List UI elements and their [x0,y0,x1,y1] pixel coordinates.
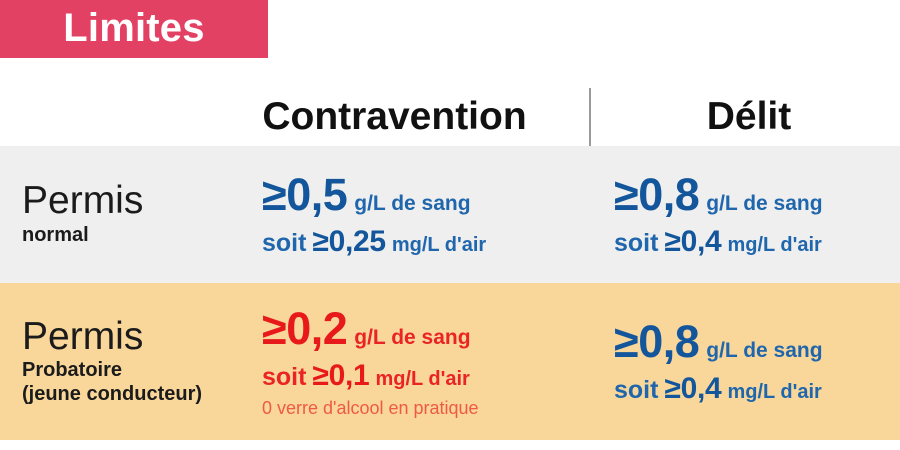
row-label-sub2: (jeune conducteur) [22,383,232,407]
value-line-breath: soit≥0,4mg/L d'air [614,374,900,404]
row-label-permis-normal: Permis normal [22,146,232,283]
breath-limit-unit: mg/L d'air [727,381,821,403]
breath-limit-prefix: soit [614,376,658,404]
row-label-main: Permis [22,181,232,222]
practice-note: 0 verre d'alcool en pratique [262,398,479,418]
blood-limit-unit: g/L de sang [706,192,822,215]
value-line-breath: soit≥0,1mg/L d'air [262,361,582,391]
breath-limit-value: ≥0,1 [312,359,369,392]
value-line-blood: ≥0,5g/L de sang [262,172,582,217]
breath-limit-value: ≥0,25 [312,225,385,258]
breath-limit-prefix: soit [262,363,306,391]
blood-limit-unit: g/L de sang [706,339,822,362]
value-line-blood: ≥0,8g/L de sang [614,319,900,364]
title-badge-label: Limites [63,8,204,48]
cell-probatoire-delit: ≥0,8g/L de sang soit≥0,4mg/L d'air [614,283,900,440]
breath-limit-prefix: soit [262,229,306,257]
blood-limit-value: ≥0,5 [262,169,347,220]
breath-limit-unit: mg/L d'air [727,234,821,256]
blood-limit-value: ≥0,8 [614,169,699,220]
column-header-delit: Délit [598,86,900,146]
row-label-sub: normal [22,224,232,248]
row-label-main: Permis [22,317,232,358]
breath-limit-unit: mg/L d'air [392,234,486,256]
blood-limit-value: ≥0,2 [262,303,347,354]
value-line-blood: ≥0,8g/L de sang [614,172,900,217]
limites-infographic: Limites Contravention Délit Permis norma… [0,0,900,450]
table-row: Permis Probatoire (jeune conducteur) ≥0,… [0,283,900,440]
breath-limit-value: ≥0,4 [664,225,721,258]
value-line-note: 0 verre d'alcool en pratique [262,399,582,418]
blood-limit-value: ≥0,8 [614,316,699,367]
value-line-breath: soit≥0,25mg/L d'air [262,227,582,257]
value-line-breath: soit≥0,4mg/L d'air [614,227,900,257]
cell-normal-delit: ≥0,8g/L de sang soit≥0,4mg/L d'air [614,146,900,283]
cell-normal-contravention: ≥0,5g/L de sang soit≥0,25mg/L d'air [262,146,582,283]
title-badge: Limites [0,0,268,58]
breath-limit-value: ≥0,4 [664,372,721,405]
cell-probatoire-contravention: ≥0,2g/L de sang soit≥0,1mg/L d'air 0 ver… [262,283,582,440]
value-line-blood: ≥0,2g/L de sang [262,306,582,351]
column-header-contravention: Contravention [207,86,582,146]
row-label-sub: Probatoire [22,359,232,383]
column-header-row: Contravention Délit [0,86,900,146]
row-label-permis-probatoire: Permis Probatoire (jeune conducteur) [22,283,232,440]
table-row: Permis normal ≥0,5g/L de sang soit≥0,25m… [0,146,900,283]
breath-limit-unit: mg/L d'air [375,368,469,390]
blood-limit-unit: g/L de sang [354,326,470,349]
breath-limit-prefix: soit [614,229,658,257]
blood-limit-unit: g/L de sang [354,192,470,215]
